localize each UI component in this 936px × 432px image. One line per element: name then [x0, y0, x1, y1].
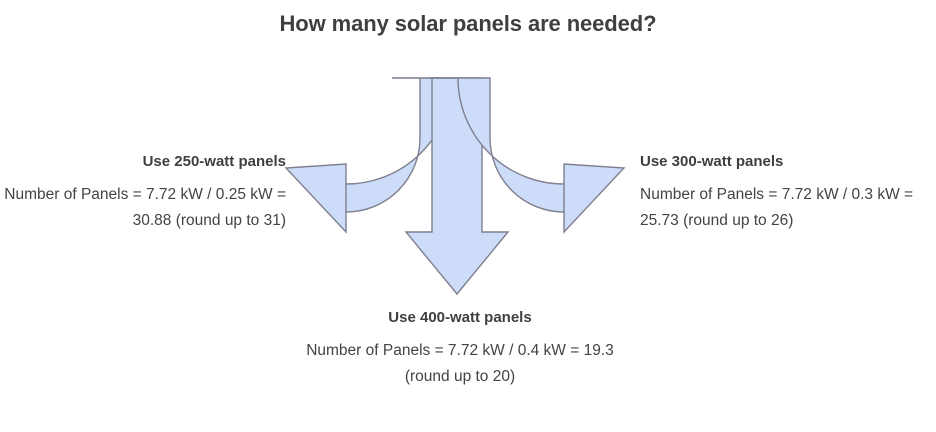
branch-right-heading: Use 300-watt panels: [640, 152, 930, 172]
solar-panel-decision-diagram: How many solar panels are needed? Use 25…: [0, 0, 936, 432]
arrow-group: [280, 72, 640, 307]
branch-down: Use 400-watt panels Number of Panels = 7…: [290, 308, 630, 390]
branch-left-heading: Use 250-watt panels: [0, 152, 286, 172]
branch-down-heading: Use 400-watt panels: [290, 308, 630, 328]
branch-right: Use 300-watt panels Number of Panels = 7…: [640, 152, 930, 234]
page-title: How many solar panels are needed?: [268, 10, 668, 38]
branch-left-body: Number of Panels = 7.72 kW / 0.25 kW = 3…: [0, 182, 286, 234]
branch-left: Use 250-watt panels Number of Panels = 7…: [0, 152, 288, 234]
branch-down-body: Number of Panels = 7.72 kW / 0.4 kW = 19…: [290, 338, 630, 390]
branch-right-body: Number of Panels = 7.72 kW / 0.3 kW = 25…: [640, 182, 930, 234]
curved-left-arrow-icon: [286, 78, 452, 232]
